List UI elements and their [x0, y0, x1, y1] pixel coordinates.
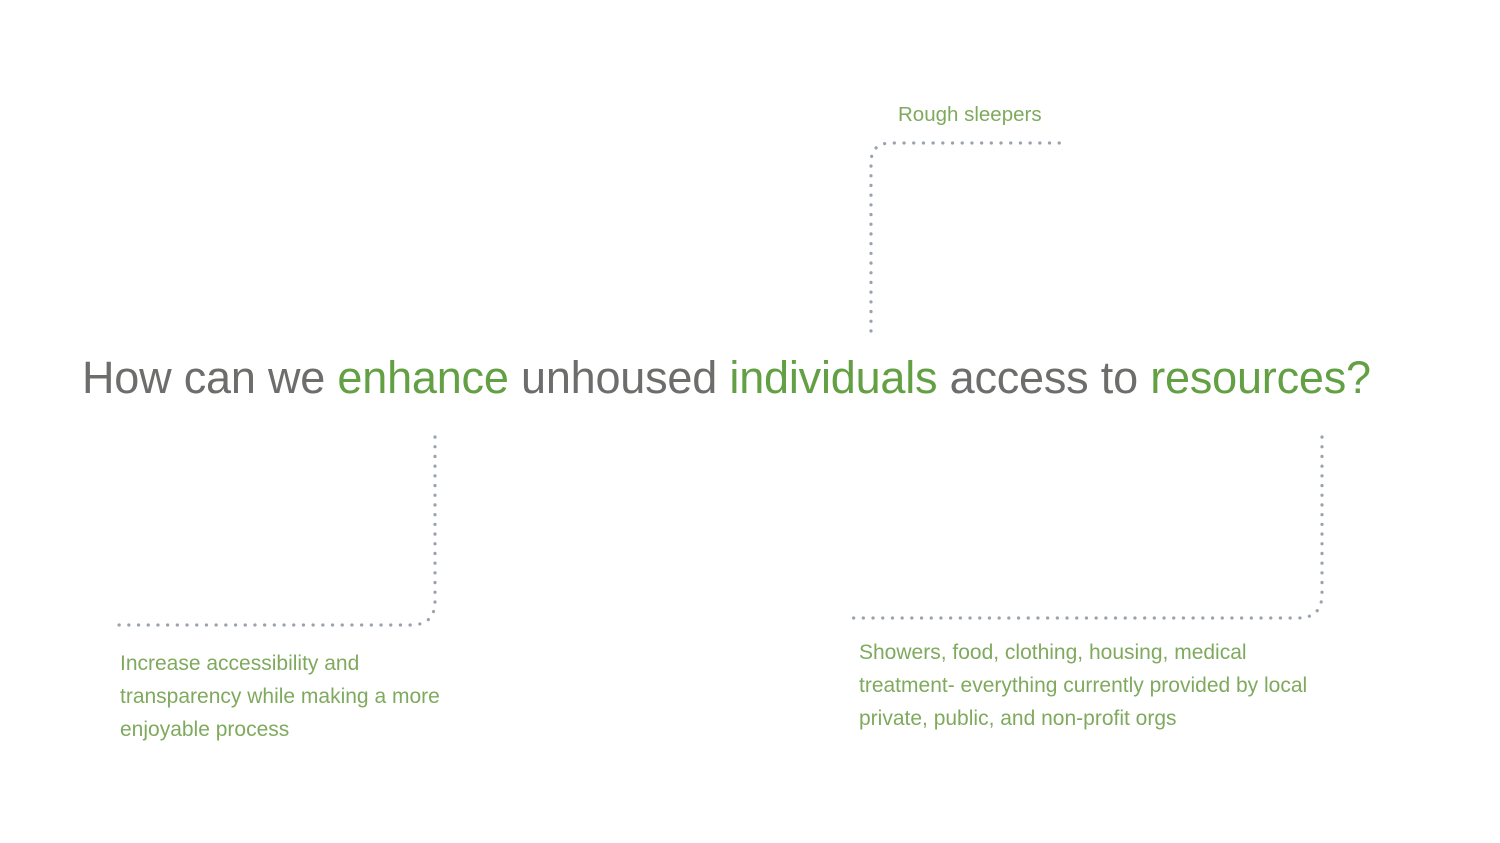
annotation-right: Showers, food, clothing, housing, medica… — [859, 637, 1329, 735]
headline-highlight-individuals: individuals — [729, 352, 937, 403]
page-title: How can we enhance unhoused individuals … — [82, 352, 1442, 404]
connector-left-annotation — [118, 437, 435, 625]
annotation-rough-sleepers: Rough sleepers — [898, 99, 1042, 131]
connector-right-annotation — [853, 437, 1322, 618]
headline-segment-3: access to — [937, 352, 1150, 403]
headline-segment-2: unhoused — [509, 352, 730, 403]
connector-rough-sleepers — [871, 143, 1062, 331]
annotation-left: Increase accessibility and transparency … — [120, 648, 450, 746]
slide-canvas: How can we enhance unhoused individuals … — [0, 0, 1500, 843]
headline-highlight-resources: resources? — [1150, 352, 1371, 403]
headline-highlight-enhance: enhance — [337, 352, 508, 403]
headline-segment-1: How can we — [82, 352, 337, 403]
